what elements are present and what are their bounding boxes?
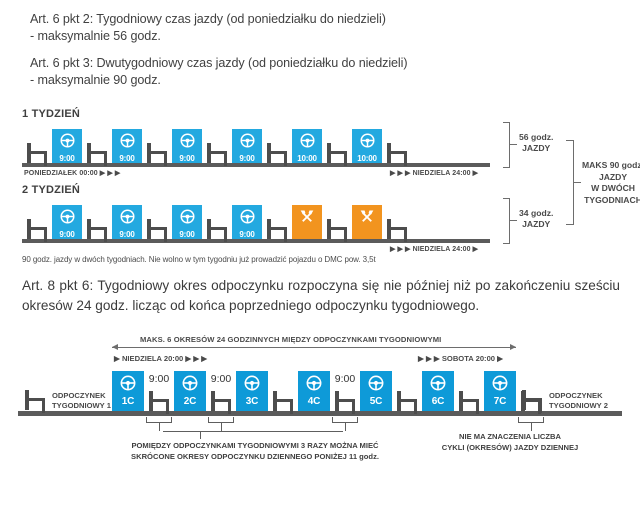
week1-title: 1 TYDZIEŃ [22, 108, 80, 120]
cycle-label: 6C [432, 397, 444, 406]
total-brace-tick [574, 182, 581, 183]
steering-wheel-icon [300, 133, 315, 148]
driving-block: 10:00 [292, 129, 322, 163]
week1-timeline: 9:009:009:009:0010:0010:00 [22, 121, 490, 167]
steering-wheel-icon [120, 375, 136, 396]
rest-icon [393, 389, 421, 411]
daily-rest-period: 9:00 [330, 389, 360, 411]
total-brace-line3: W DWÓCH [591, 183, 635, 193]
driving-hours-label: 10:00 [297, 154, 316, 163]
cycle-block-2c: 2C [174, 371, 206, 411]
driving-hours-label: 9:00 [119, 230, 134, 239]
steering-wheel-icon [360, 133, 375, 153]
weekly-rest-2-line1: ODPOCZYNEK [549, 391, 603, 400]
rest-period [83, 141, 111, 163]
steering-wheel-icon [180, 209, 195, 224]
reduced-rest-brace-stem [345, 423, 346, 431]
steering-wheel-icon [240, 133, 255, 148]
weekly-rest-1-icon [21, 388, 49, 410]
week1-end-caption: ▶ ▶ ▶ NIEDZIELA 24:00 ▶ [390, 169, 478, 177]
cycle-label: 5C [370, 397, 382, 406]
total-brace-line1: MAKS 90 godz. [582, 160, 640, 170]
daily-rest-period [454, 389, 484, 411]
week1-brace [503, 122, 510, 168]
rest-period [263, 217, 291, 239]
cycle-label: 1C [122, 397, 134, 406]
driving-hours-label: 9:00 [179, 230, 194, 239]
bottom-span-arrow [112, 347, 516, 348]
week2-title: 2 TYDZIEŃ [22, 184, 80, 196]
week1-start-caption: PONIEDZIAŁEK 00:00 ▶ ▶ ▶ [24, 169, 120, 177]
legal-paragraph-art8-6: Art. 8 pkt 6: Tygodniowy okres odpoczynk… [22, 276, 620, 316]
cycle-label: 7C [494, 397, 506, 406]
driving-hours-label: 9:00 [59, 230, 74, 239]
legal-paragraph-art6-2: Art. 6 pkt 2: Tygodniowy czas jazdy (od … [30, 11, 386, 45]
crossed-tools-icon [299, 209, 315, 225]
driving-block: 9:00 [52, 205, 82, 239]
driving-block: 9:00 [172, 129, 202, 163]
steering-wheel-icon [492, 375, 508, 391]
steering-wheel-icon [60, 133, 75, 153]
rest-icon: 9:00 [207, 389, 235, 411]
total-brace-label: MAKS 90 godz. JAZDY W DWÓCH TYGODNIACH [582, 160, 640, 206]
bottom-note-left-connector [163, 431, 343, 432]
steering-wheel-icon [120, 209, 135, 224]
art6-2-line2: - maksymalnie 56 godz. [30, 28, 386, 45]
total-brace [566, 140, 574, 225]
other-work-block [292, 205, 322, 239]
bottom-span-title: MAKS. 6 OKRESÓW 24 GODZINNYCH MIĘDZY ODP… [140, 335, 441, 344]
bottom-start-caption: ▶ NIEDZIELA 20:00 ▶ ▶ ▶ [114, 354, 207, 364]
art6-3-line1: Art. 6 pkt 3: Dwutygodniowy czas jazdy (… [30, 55, 407, 72]
week1-brace-tick [510, 144, 517, 145]
cycle-label: 4C [308, 397, 320, 406]
steering-wheel-icon [244, 375, 260, 391]
reduced-rest-brace-stem [221, 423, 222, 431]
daily-rest-period: 9:00 [206, 389, 236, 411]
legal-paragraph-art6-3: Art. 6 pkt 3: Dwutygodniowy czas jazdy (… [30, 55, 407, 89]
cycle-block-3c: 3C [236, 371, 268, 411]
weekly-rest-1-line1: ODPOCZYNEK [52, 391, 106, 400]
steering-wheel-icon [306, 375, 322, 396]
driving-block: 9:00 [112, 205, 142, 239]
bottom-note-right: NIE MA ZNACZENIA LICZBA CYKLI (OKRESÓW) … [400, 431, 620, 453]
steering-wheel-icon [492, 375, 508, 396]
bottom-note-left-line1: POMIĘDZY ODPOCZYNKAMI TYGODNIOWYMI 3 RAZ… [131, 441, 378, 450]
week1-brace-label: 56 godz. JAZDY [519, 132, 553, 154]
steering-wheel-icon [60, 209, 75, 229]
other-work-block [352, 205, 382, 239]
week1-brace-label-line2: JAZDY [522, 143, 550, 153]
steering-wheel-icon [120, 133, 135, 148]
reduced-rest-brace-stem [159, 423, 160, 431]
rest-period [143, 217, 171, 239]
steering-wheel-icon [60, 133, 75, 148]
reduced-rest-brace-stem [531, 423, 532, 431]
art6-2-line1: Art. 6 pkt 2: Tygodniowy czas jazdy (od … [30, 11, 386, 28]
week2-items: 9:009:009:009:00 [22, 197, 412, 239]
steering-wheel-icon [306, 375, 322, 391]
week2-brace-tick [510, 220, 517, 221]
steering-wheel-icon [300, 133, 315, 153]
art6-3-line2: - maksymalnie 90 godz. [30, 72, 407, 89]
weekly-rest-2-icon [518, 388, 546, 410]
steering-wheel-icon [120, 375, 136, 391]
cycle-label: 2C [184, 397, 196, 406]
weekly-rest-2-line2: TYGODNIOWY 2 [549, 401, 608, 410]
steering-wheel-icon [180, 209, 195, 229]
week2-end-caption: ▶ ▶ ▶ NIEDZIELA 24:00 ▶ [390, 245, 478, 253]
bottom-note-left: POMIĘDZY ODPOCZYNKAMI TYGODNIOWYMI 3 RAZ… [120, 440, 390, 462]
week1-brace-label-line1: 56 godz. [519, 132, 553, 142]
steering-wheel-icon [120, 209, 135, 229]
bottom-end-caption: ▶ ▶ ▶ SOBOTA 20:00 ▶ [418, 354, 503, 364]
rest-period [203, 141, 231, 163]
rest-period [323, 217, 351, 239]
rest-period [143, 141, 171, 163]
steering-wheel-icon [180, 133, 195, 153]
crossed-tools-icon [359, 209, 375, 225]
rest-period [23, 217, 51, 239]
rest-period [263, 141, 291, 163]
steering-wheel-icon [430, 375, 446, 396]
rest-icon: 9:00 [331, 389, 359, 411]
rest-icon: 9:00 [145, 389, 173, 411]
cycle-label: 3C [246, 397, 258, 406]
steering-wheel-icon [360, 133, 375, 148]
driving-block: 10:00 [352, 129, 382, 163]
rest-period [23, 141, 51, 163]
bottom-note-right-line2: CYKLI (OKRESÓW) JAZDY DZIENNEJ [442, 443, 579, 452]
daily-rest-period [268, 389, 298, 411]
daily-rest-period: 9:00 [144, 389, 174, 411]
steering-wheel-icon [60, 209, 75, 224]
rest-period [83, 217, 111, 239]
bottom-diagram: MAKS. 6 OKRESÓW 24 GODZINNYCH MIĘDZY ODP… [0, 335, 640, 475]
steering-wheel-icon [240, 209, 255, 224]
driving-hours-label: 9:00 [119, 154, 134, 163]
bottom-cycle-items: 1C9:002C9:003C4C9:005C6C7C [112, 369, 546, 411]
rest-period [383, 217, 411, 239]
weekly-rest-2-label: ODPOCZYNEK TYGODNIOWY 2 [549, 391, 608, 411]
driving-hours-label: 9:00 [179, 154, 194, 163]
crossed-tools-icon [359, 209, 375, 230]
crossed-tools-icon [299, 209, 315, 230]
driving-hours-label: 9:00 [239, 230, 254, 239]
steering-wheel-icon [244, 375, 260, 396]
driving-hours-label: 9:00 [59, 154, 74, 163]
steering-wheel-icon [368, 375, 384, 396]
bottom-note-right-line1: NIE MA ZNACZENIA LICZBA [459, 432, 561, 441]
driving-block: 9:00 [52, 129, 82, 163]
steering-wheel-icon [240, 209, 255, 229]
daily-rest-hours-label: 9:00 [211, 373, 231, 385]
week1-items: 9:009:009:009:0010:0010:00 [22, 121, 412, 163]
steering-wheel-icon [368, 375, 384, 391]
rest-period [203, 217, 231, 239]
week2-brace [503, 198, 510, 244]
steering-wheel-icon [430, 375, 446, 391]
week2-brace-label-line2: JAZDY [522, 219, 550, 229]
rest-period [323, 141, 351, 163]
weekly-rest-1-label: ODPOCZYNEK TYGODNIOWY 1 [52, 391, 111, 411]
daily-rest-period [392, 389, 422, 411]
steering-wheel-icon [180, 133, 195, 148]
driving-block: 9:00 [172, 205, 202, 239]
cycle-block-4c: 4C [298, 371, 330, 411]
steering-wheel-icon [120, 133, 135, 153]
rest-icon [455, 389, 483, 411]
driving-hours-label: 10:00 [357, 154, 376, 163]
driving-block: 9:00 [232, 205, 262, 239]
daily-rest-hours-label: 9:00 [335, 373, 355, 385]
steering-wheel-icon [182, 375, 198, 391]
steering-wheel-icon [240, 133, 255, 153]
driving-block: 9:00 [232, 129, 262, 163]
total-brace-line4: TYGODNIACH [584, 195, 640, 205]
bottom-note-left-stem [200, 431, 201, 439]
steering-wheel-icon [182, 375, 198, 396]
bottom-note-left-line2: SKRÓCONE OKRESY ODPOCZYNKU DZIENNEGO PON… [131, 452, 379, 461]
week2-footnote: 90 godz. jazdy w dwóch tygodniach. Nie w… [22, 255, 376, 264]
total-brace-line2: JAZDY [599, 172, 627, 182]
cycle-block-7c: 7C [484, 371, 516, 411]
week2-brace-label-line1: 34 godz. [519, 208, 553, 218]
daily-rest-hours-label: 9:00 [149, 373, 169, 385]
driving-hours-label: 9:00 [239, 154, 254, 163]
weekly-rest-1-line2: TYGODNIOWY 1 [52, 401, 111, 410]
rest-icon [269, 389, 297, 411]
cycle-block-1c: 1C [112, 371, 144, 411]
week2-timeline: 9:009:009:009:00 [22, 197, 490, 243]
cycle-block-6c: 6C [422, 371, 454, 411]
week2-brace-label: 34 godz. JAZDY [519, 208, 553, 230]
rest-period [383, 141, 411, 163]
cycle-block-5c: 5C [360, 371, 392, 411]
driving-block: 9:00 [112, 129, 142, 163]
